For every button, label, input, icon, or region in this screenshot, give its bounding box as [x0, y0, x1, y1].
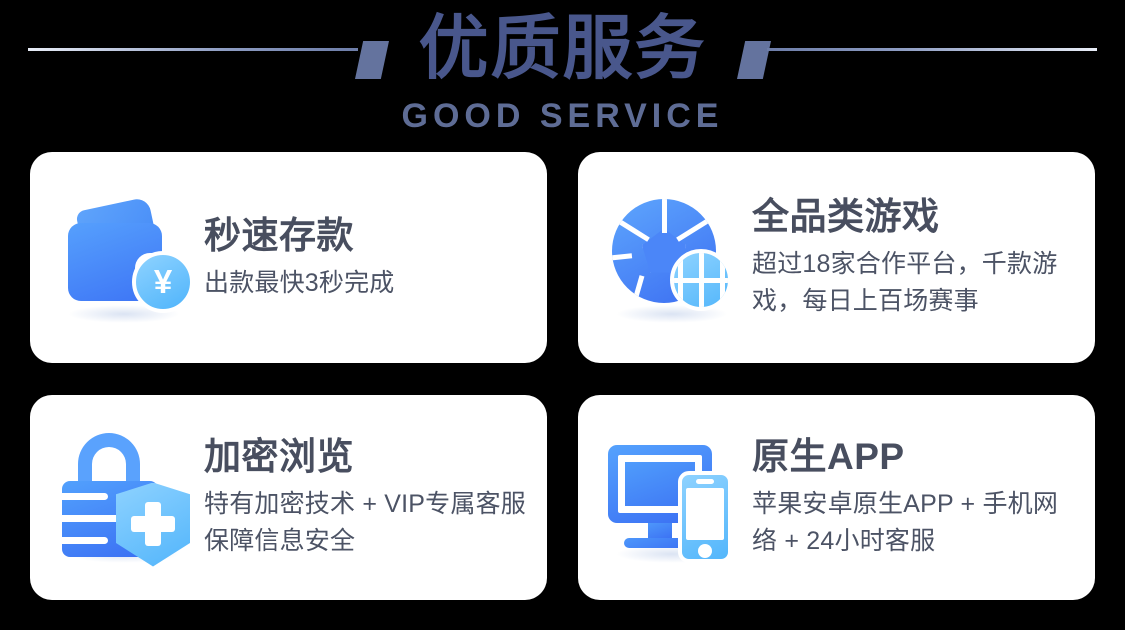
feature-card-text: 秒速存款 出款最快3秒完成 — [198, 214, 529, 302]
feature-card-deposit[interactable]: ¥ 秒速存款 出款最快3秒完成 — [30, 152, 547, 363]
feature-card-title: 原生APP — [752, 435, 1077, 479]
feature-card-text: 原生APP 苹果安卓原生APP + 手机网络 + 24小时客服 — [746, 435, 1077, 560]
feature-card-description: 特有加密技术 + VIP专属客服保障信息安全 — [204, 486, 529, 560]
soccer-basketball-icon — [604, 187, 746, 329]
monitor-phone-icon — [604, 427, 746, 569]
feature-card-title: 加密浏览 — [204, 435, 529, 479]
phone-speaker-shape — [696, 479, 714, 484]
phone-home-button-icon — [698, 544, 712, 558]
feature-card-encryption[interactable]: 加密浏览 特有加密技术 + VIP专属客服保障信息安全 — [30, 395, 547, 600]
lock-shield-icon — [56, 427, 198, 569]
page-header: 优质服务 GOOD SERVICE — [0, 0, 1125, 140]
feature-card-description: 超过18家合作平台，千款游戏，每日上百场赛事 — [752, 246, 1077, 320]
shield-cross-icon — [131, 516, 175, 532]
feature-card-description: 苹果安卓原生APP + 手机网络 + 24小时客服 — [752, 486, 1077, 560]
feature-card-text: 全品类游戏 超过18家合作平台，千款游戏，每日上百场赛事 — [746, 195, 1077, 320]
page-subtitle: GOOD SERVICE — [0, 96, 1125, 136]
feature-card-description: 出款最快3秒完成 — [204, 265, 529, 302]
page-title: 优质服务 — [0, 7, 1125, 89]
feature-card-native-app[interactable]: 原生APP 苹果安卓原生APP + 手机网络 + 24小时客服 — [578, 395, 1095, 600]
basketball-shape — [670, 249, 732, 311]
phone-screen-shape — [686, 488, 724, 540]
wallet-icon: ¥ — [56, 187, 198, 329]
feature-card-text: 加密浏览 特有加密技术 + VIP专属客服保障信息安全 — [198, 435, 529, 560]
feature-card-title: 秒速存款 — [204, 214, 529, 258]
yen-coin-icon: ¥ — [132, 251, 194, 313]
feature-card-grid: ¥ 秒速存款 出款最快3秒完成 — [30, 152, 1095, 600]
feature-card-games[interactable]: 全品类游戏 超过18家合作平台，千款游戏，每日上百场赛事 — [578, 152, 1095, 363]
feature-card-title: 全品类游戏 — [752, 195, 1077, 239]
page-root: 优质服务 GOOD SERVICE ¥ 秒速存款 出款最快3秒完成 — [0, 0, 1125, 630]
